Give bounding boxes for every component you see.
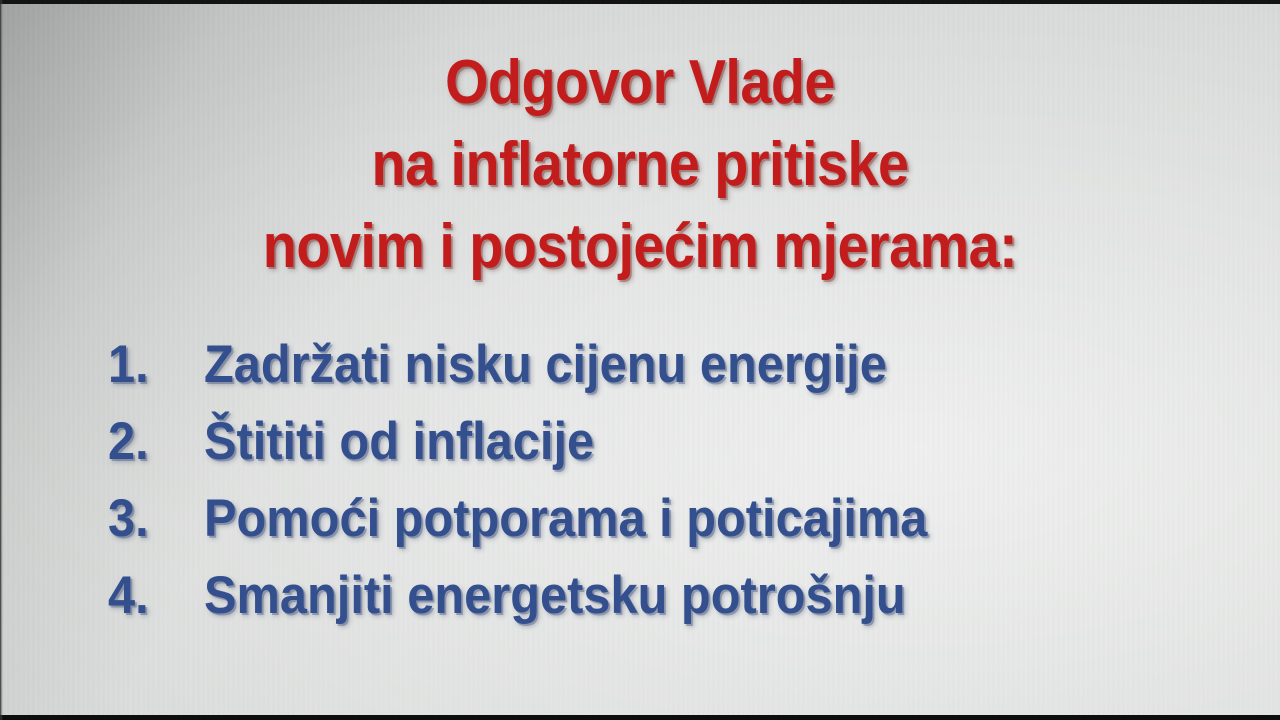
list-item: 4. Smanjiti energetsku potrošnju bbox=[108, 562, 1240, 639]
title-line-3: novim i postojećim mjerama: bbox=[64, 204, 1216, 290]
list-item-number: 3. bbox=[108, 485, 196, 553]
numbered-measures-list: 1. Zadržati nisku cijenu energije 2. Šti… bbox=[108, 331, 1240, 639]
list-item-number: 2. bbox=[108, 408, 196, 476]
list-item-number: 1. bbox=[108, 331, 196, 399]
list-item: 3. Pomoći potporama i poticajima bbox=[108, 485, 1240, 562]
list-item-number: 4. bbox=[108, 562, 196, 630]
title-line-1: Odgovor Vlade bbox=[64, 40, 1216, 126]
list-item-label: Smanjiti energetsku potrošnju bbox=[204, 562, 906, 630]
list-item: 2. Štititi od inflacije bbox=[108, 408, 1240, 485]
list-item-label: Zadržati nisku cijenu energije bbox=[204, 331, 887, 399]
title-line-2: na inflatorne pritiske bbox=[64, 122, 1216, 208]
list-item-label: Pomoći potporama i poticajima bbox=[204, 485, 927, 553]
list-item-label: Štititi od inflacije bbox=[204, 408, 594, 476]
slide-content: Odgovor Vlade na inflatorne pritiske nov… bbox=[0, 0, 1280, 720]
list-item: 1. Zadržati nisku cijenu energije bbox=[108, 331, 1240, 408]
presentation-slide: Odgovor Vlade na inflatorne pritiske nov… bbox=[0, 0, 1280, 720]
slide-title: Odgovor Vlade na inflatorne pritiske nov… bbox=[0, 40, 1280, 290]
